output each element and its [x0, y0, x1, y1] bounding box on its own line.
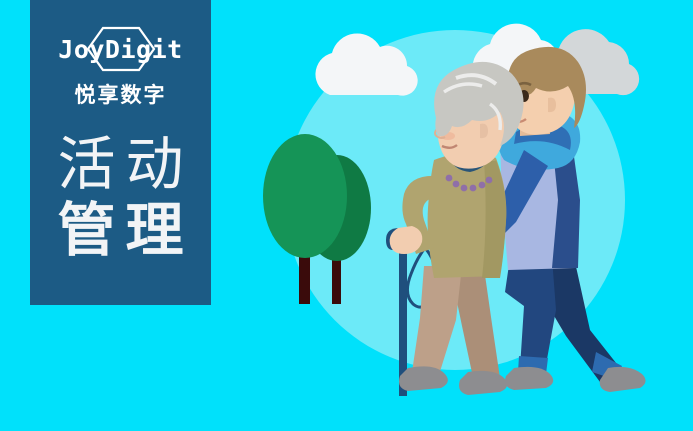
- brand-logo: JoyDigit: [45, 26, 197, 72]
- promo-banner: JoyDigit 悦享数字 活动 管理: [0, 0, 693, 431]
- brand-name-chinese: 悦享数字: [75, 85, 167, 106]
- title-panel: JoyDigit 悦享数字 活动 管理: [30, 0, 211, 305]
- brand-name-latin: JoyDigit: [58, 37, 182, 62]
- page-title-line-2: 管理: [30, 198, 211, 264]
- page-title-line-1: 活动: [30, 132, 211, 198]
- page-title: 活动 管理: [30, 132, 211, 264]
